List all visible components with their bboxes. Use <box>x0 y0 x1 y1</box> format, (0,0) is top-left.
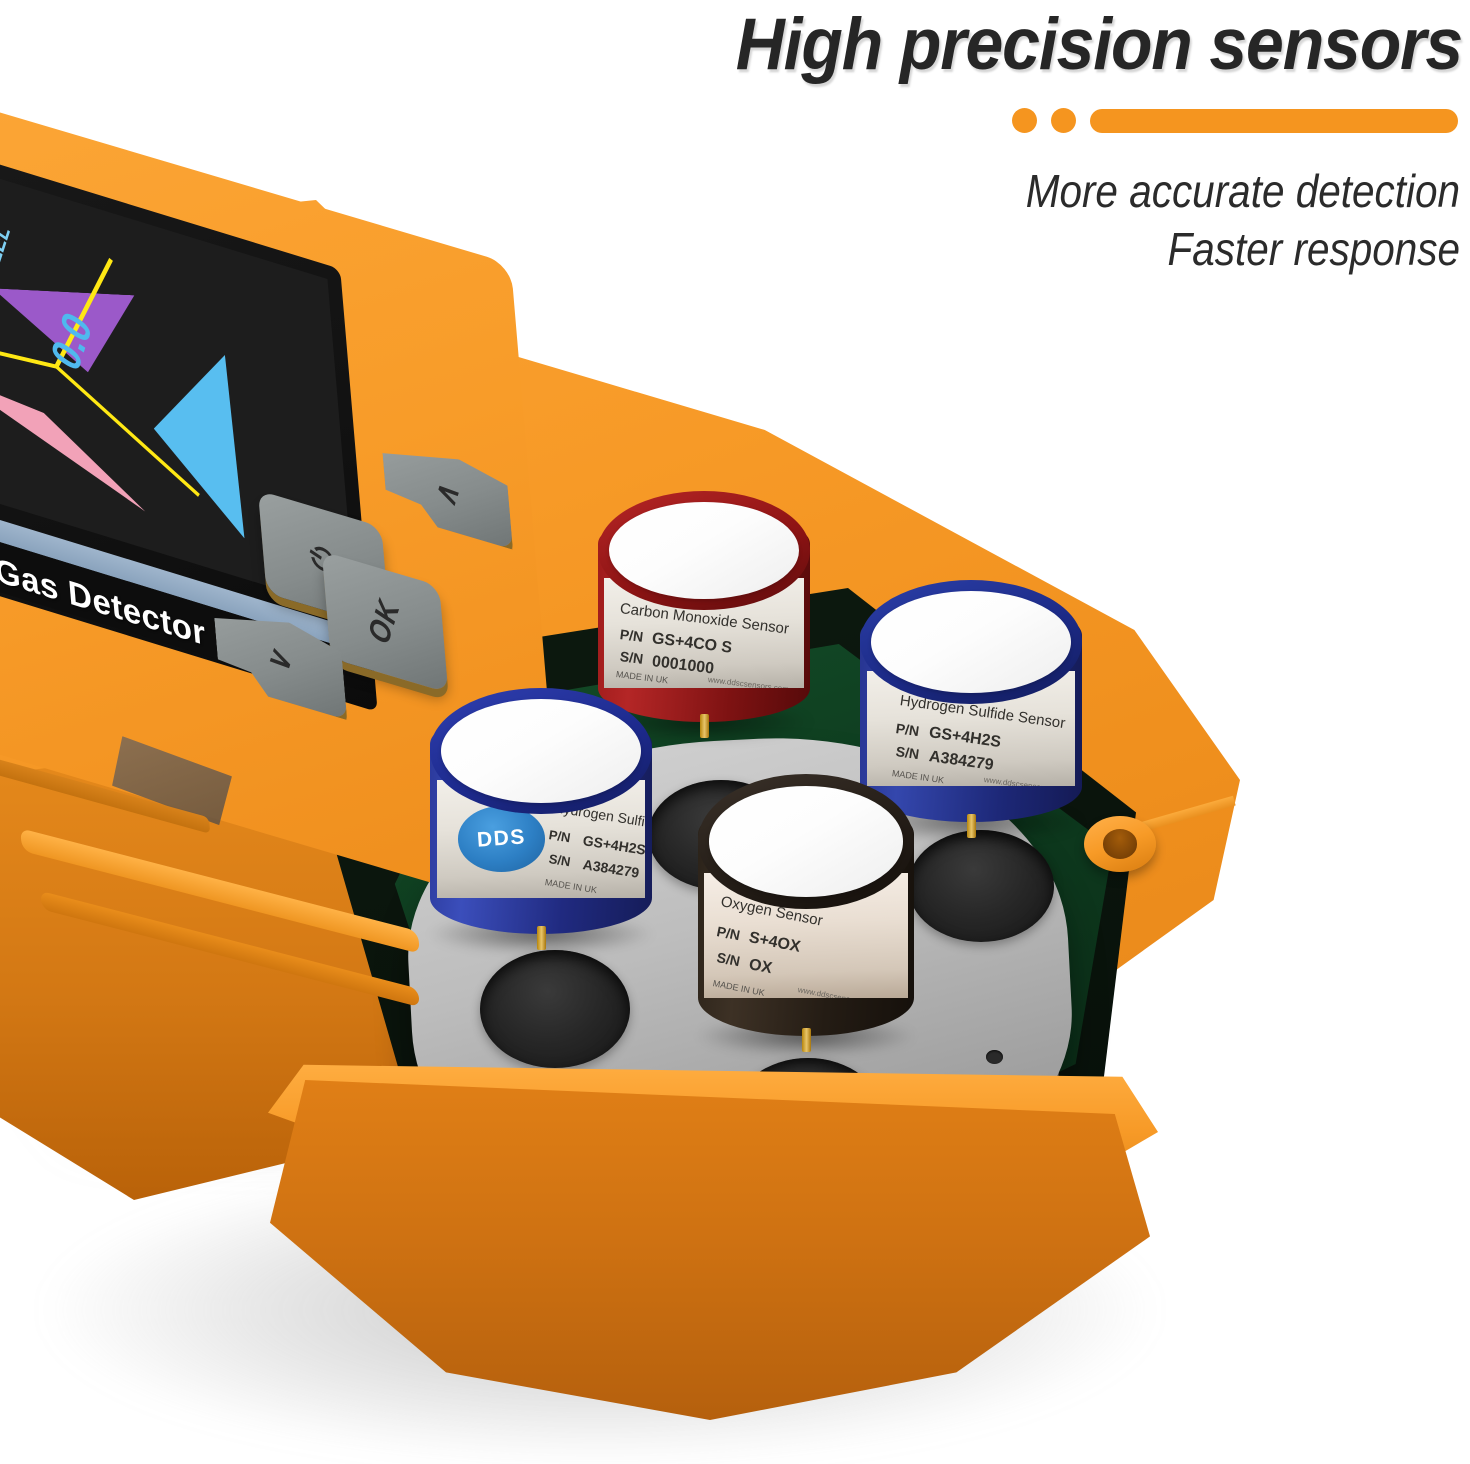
sensor-pn-label: P/N <box>715 923 741 943</box>
hydrogen-sulfide-sensor-right[interactable]: Hydrogen Sulfide Sensor P/N GS+4H2S S/N … <box>860 600 1082 822</box>
sensor-website: www.ddscsensors.com <box>707 675 789 688</box>
sensor-origin: MADE IN UK <box>712 978 765 998</box>
sensor-socket-1 <box>480 950 630 1068</box>
sensor-sn-label: S/N <box>548 851 572 869</box>
sensor-sn-label: S/N <box>715 949 741 969</box>
sensor-website: www.ddscsensors.com <box>983 775 1065 787</box>
lel-unit: %LEL <box>0 219 16 284</box>
accent-divider <box>1012 108 1458 133</box>
hydrogen-sulfide-sensor-left[interactable]: DDS Hydrogen Sulfide Sensor P/N GS+4H2S … <box>430 708 652 934</box>
plate-pin-hole-2 <box>986 1050 1003 1064</box>
sensor-pin <box>700 714 709 738</box>
up-arrow-icon: ∧ <box>427 472 467 513</box>
sensor-pn-value: GS+4H2S <box>581 832 645 858</box>
sensor-pin <box>537 926 546 950</box>
dds-brand-text: DDS <box>476 825 526 852</box>
dds-brand-badge: DDS <box>458 806 546 872</box>
oxygen-sensor[interactable]: Oxygen Sensor P/N S+4OX S/N OX MADE IN U… <box>698 796 914 1036</box>
sensor-pn-label: P/N <box>619 626 644 645</box>
sensor-origin: MADE IN UK <box>544 877 597 895</box>
screw-boss-right <box>1084 816 1156 872</box>
sensor-sn-label: S/N <box>895 743 920 762</box>
accent-dot-2 <box>1051 108 1076 133</box>
sensor-pin <box>802 1028 811 1052</box>
accent-bar <box>1090 109 1458 133</box>
sensor-pn-label: P/N <box>548 827 572 845</box>
sensor-socket-3 <box>908 830 1054 942</box>
sensor-pn-label: P/N <box>895 720 920 739</box>
sensor-membrane <box>609 502 800 600</box>
sensor-pn-value: GS+4H2S <box>928 724 1002 752</box>
ok-button-label: OK <box>363 592 407 652</box>
carbon-monoxide-sensor[interactable]: Carbon Monoxide Sensor P/N GS+4CO S S/N … <box>598 510 810 722</box>
sensor-membrane <box>871 591 1071 693</box>
sensor-pn-value: S+4OX <box>747 929 802 957</box>
sensor-membrane <box>441 699 641 803</box>
sensor-website: www.ddscsensors.com <box>797 985 879 997</box>
down-arrow-icon: ∨ <box>260 639 300 680</box>
boss-hole <box>1103 829 1138 858</box>
gas-detector-product-render: 20.9 O2 %VOL %LEL EX 0.0 CO 0.0 Gas Dete… <box>0 180 1320 1464</box>
sensor-membrane <box>709 786 903 896</box>
sensor-pin <box>967 814 976 838</box>
sensor-origin: MADE IN UK <box>891 768 944 785</box>
sensor-sn-value: OX <box>747 957 773 979</box>
page-title: High precision sensors <box>102 2 1462 88</box>
accent-dot-1 <box>1012 108 1037 133</box>
sensor-sn-value: A384279 <box>928 748 995 775</box>
product-marketing-image: High precision sensors More accurate det… <box>0 0 1470 1464</box>
sensor-pn-value: GS+4CO S <box>651 630 733 658</box>
sensor-sn-label: S/N <box>619 648 644 667</box>
sensor-sn-value: A384279 <box>581 856 640 881</box>
